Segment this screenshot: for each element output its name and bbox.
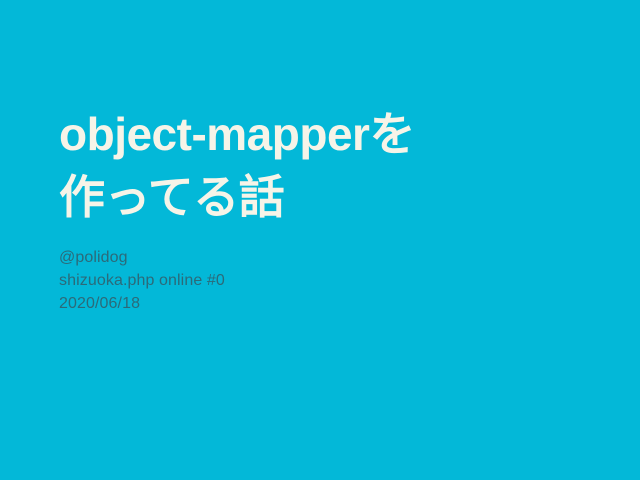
- presentation-slide: object-mapperを 作ってる話 @polidog shizuoka.p…: [0, 0, 640, 480]
- slide-title-line-1: object-mapperを: [59, 103, 579, 166]
- event-name: shizuoka.php online #0: [59, 269, 579, 292]
- slide-content-block: object-mapperを 作ってる話 @polidog shizuoka.p…: [59, 103, 579, 315]
- presentation-date: 2020/06/18: [59, 292, 579, 315]
- slide-title: object-mapperを 作ってる話: [59, 103, 579, 229]
- slide-subtitle: @polidog shizuoka.php online #0 2020/06/…: [59, 246, 579, 315]
- slide-title-line-2: 作ってる話: [59, 166, 579, 229]
- author-handle: @polidog: [59, 246, 579, 269]
